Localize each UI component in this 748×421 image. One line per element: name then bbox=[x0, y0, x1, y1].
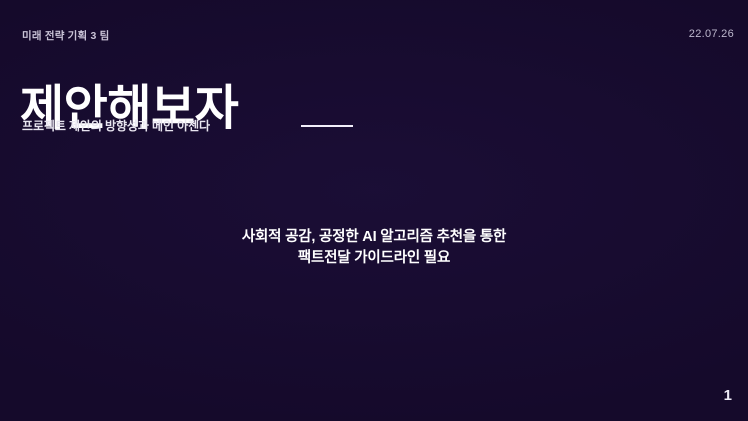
key-statement-line-2: 팩트전달 가이드라인 필요 bbox=[0, 248, 748, 269]
page-subtitle: 프로젝트 제안의 방향성과 메인 아젠다 bbox=[22, 117, 210, 134]
header-date: 22.07.26 bbox=[689, 28, 734, 40]
page-number: 1 bbox=[724, 388, 732, 403]
presentation-slide: 미래 전략 기획 3 팀 22.07.26 제안해보자 프로젝트 제안의 방향성… bbox=[0, 0, 748, 421]
title-divider-rule bbox=[301, 125, 353, 127]
key-statement-line-1: 사회적 공감, 공정한 AI 알고리즘 추천을 통한 bbox=[0, 227, 748, 248]
key-statement: 사회적 공감, 공정한 AI 알고리즘 추천을 통한 팩트전달 가이드라인 필요 bbox=[0, 227, 748, 269]
header-team-label: 미래 전략 기획 3 팀 bbox=[22, 28, 110, 43]
